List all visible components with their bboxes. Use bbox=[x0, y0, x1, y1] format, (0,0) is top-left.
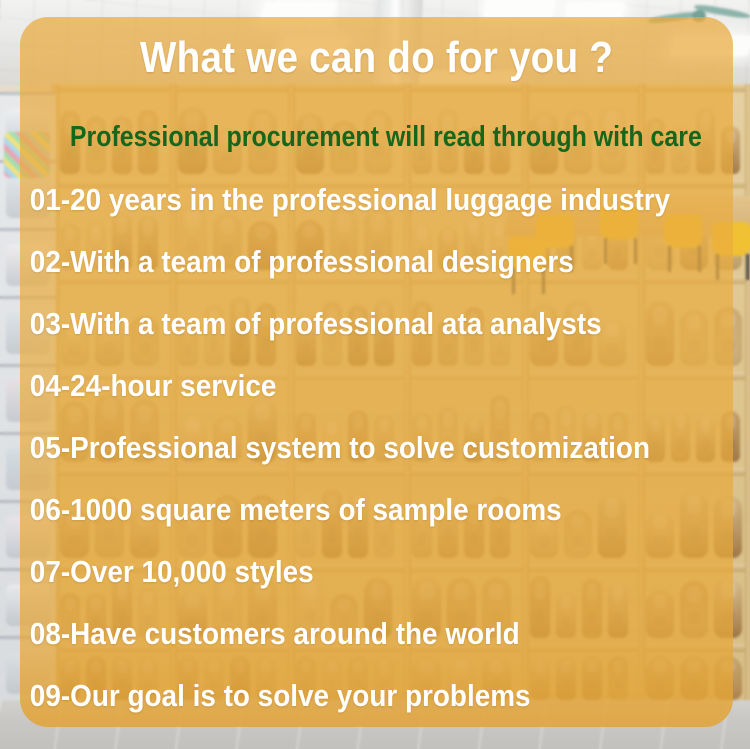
feature-item: 03-With a team of professional ata analy… bbox=[28, 293, 663, 355]
subtitle: Professional procurement will read throu… bbox=[70, 121, 683, 154]
banner-image: What we can do for you ? Professional pr… bbox=[0, 0, 750, 749]
feature-item: 01-20 years in the professional luggage … bbox=[28, 169, 663, 231]
page-title: What we can do for you ? bbox=[63, 33, 690, 83]
feature-item: 09-Our goal is to solve your problems bbox=[28, 665, 663, 727]
feature-item: 05-Professional system to solve customiz… bbox=[28, 417, 663, 479]
feature-item: 02-With a team of professional designers bbox=[28, 231, 663, 293]
feature-item: 07-Over 10,000 styles bbox=[28, 541, 663, 603]
amber-overlay-panel: What we can do for you ? Professional pr… bbox=[20, 17, 733, 727]
feature-item: 08-Have customers around the world bbox=[28, 603, 663, 665]
feature-item: 06-1000 square meters of sample rooms bbox=[28, 479, 663, 541]
feature-list: 01-20 years in the professional luggage … bbox=[28, 169, 733, 727]
feature-item: 04-24-hour service bbox=[28, 355, 663, 417]
